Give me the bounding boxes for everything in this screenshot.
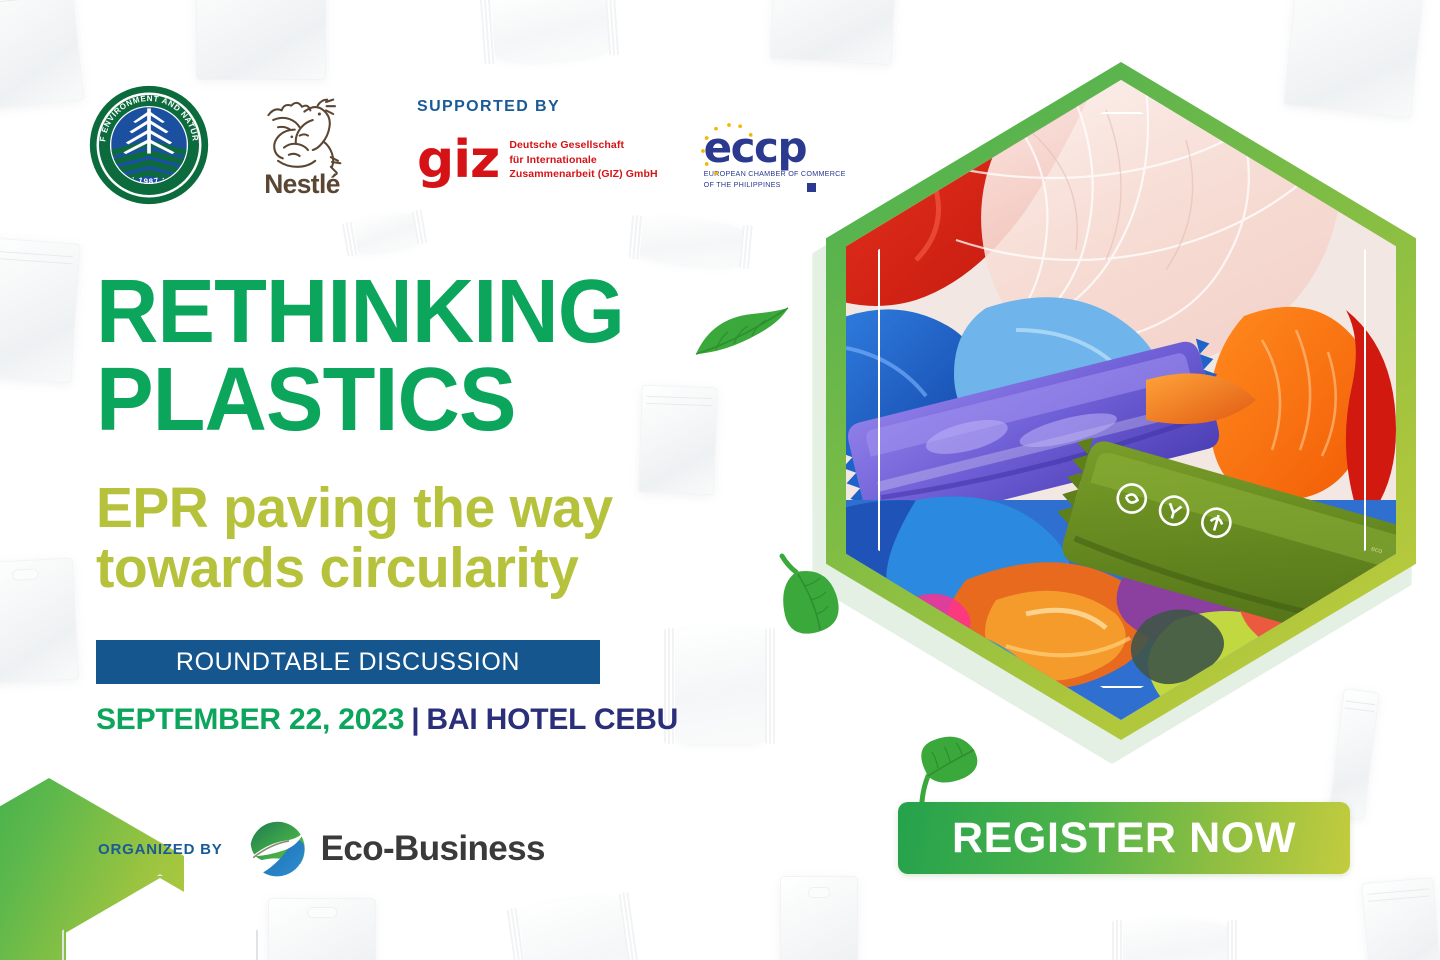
headline-line-1: RETHINKING	[96, 268, 624, 356]
promo-banner: DEPARTMENT OF ENVIRONMENT AND NATURAL RE…	[0, 0, 1440, 960]
giz-descriptor-line-3: Zusammenarbeit (GIZ) GmbH	[509, 167, 657, 182]
eco-business-logo-icon	[247, 818, 309, 880]
event-format-badge: ROUNDTABLE DISCUSSION	[96, 640, 600, 684]
svg-text:Nestlé: Nestlé	[264, 169, 340, 199]
event-separator: |	[411, 703, 419, 736]
denr-seal-logo: DEPARTMENT OF ENVIRONMENT AND NATURAL RE…	[88, 84, 210, 206]
giz-descriptor: Deutsche Gesellschaft für Internationale…	[509, 138, 657, 183]
organized-by-block: ORGANIZED BY Eco-Business	[98, 818, 545, 880]
giz-descriptor-line-1: Deutsche Gesellschaft	[509, 138, 657, 153]
page-subtitle: EPR paving the way towards circularity	[96, 478, 613, 599]
eco-business-wordmark: Eco-Business	[321, 829, 545, 869]
event-venue: BAI HOTEL CEBU	[426, 703, 678, 736]
giz-logo: giz Deutsche Gesellschaft für Internatio…	[417, 138, 658, 183]
partner-logos: DEPARTMENT OF ENVIRONMENT AND NATURAL RE…	[88, 84, 846, 206]
page-title: RETHINKING PLASTICS	[96, 268, 624, 444]
eccp-square-accent	[807, 183, 816, 192]
eccp-logo: eccp EUROPEAN CHAMBER OF COMMERCE OF THE…	[704, 130, 846, 190]
leaf-icon-2	[772, 542, 850, 634]
register-now-button[interactable]: REGISTER NOW	[898, 802, 1350, 874]
supported-by-label: SUPPORTED BY	[417, 98, 846, 116]
headline-line-2: PLASTICS	[96, 356, 624, 444]
giz-descriptor-line-2: für Internationale	[509, 153, 657, 168]
supported-by-block: SUPPORTED BY giz Deutsche Gesellschaft f…	[417, 84, 846, 190]
event-date-venue: SEPTEMBER 22, 2023|BAI HOTEL CEBU	[96, 703, 678, 737]
nestle-logo: Nestlé	[242, 84, 362, 204]
register-now-label: REGISTER NOW	[952, 814, 1296, 863]
eu-stars-icon	[698, 120, 760, 182]
subhead-line-2: towards circularity	[96, 538, 613, 598]
event-format-label: ROUNDTABLE DISCUSSION	[176, 648, 520, 677]
event-date: SEPTEMBER 22, 2023	[96, 703, 404, 736]
organized-by-label: ORGANIZED BY	[98, 841, 223, 858]
subhead-line-1: EPR paving the way	[96, 478, 613, 538]
leaf-icon-1	[692, 306, 792, 368]
giz-wordmark: giz	[417, 139, 499, 182]
